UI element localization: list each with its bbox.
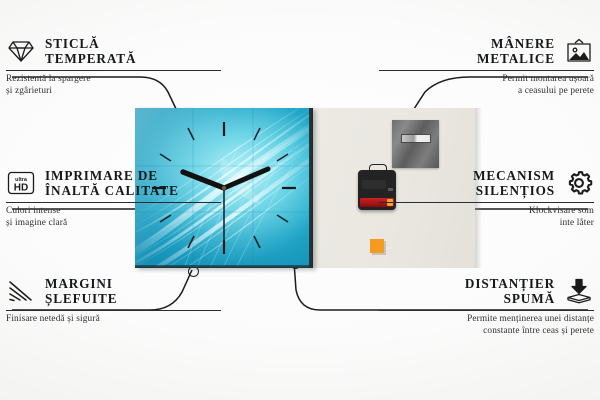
metal-hanger-plate <box>392 120 439 168</box>
feature-tempered-glass: STICLĂ TEMPERATĂ Rezistentă la spargere … <box>6 36 221 98</box>
divider <box>6 70 221 71</box>
clock-right-edge <box>309 108 313 268</box>
divider <box>6 310 221 311</box>
feature-subtitle: Permite menținerea unei distanțe constan… <box>379 314 594 338</box>
foam-spacer <box>370 239 384 253</box>
feature-title: DISTANȚIER SPUMĂ <box>465 276 555 306</box>
feature-title: MÂNERE METALICE <box>477 36 555 66</box>
minute-hand <box>224 169 268 188</box>
clock-bottom-edge <box>135 265 313 268</box>
tick-1 <box>254 128 260 140</box>
feature-title: MECANISM SILENȚIOS <box>473 168 555 198</box>
feature-metal-handles: MÂNERE METALICE Permit montarea ușoară a… <box>379 36 594 98</box>
infographic-canvas: STICLĂ TEMPERATĂ Rezistentă la spargere … <box>0 0 600 400</box>
feature-subtitle: Rezistentă la spargere și zgârieturi <box>6 74 221 98</box>
diagonal-lines-icon <box>6 276 36 306</box>
diamond-icon <box>6 36 36 66</box>
hanger-slot <box>401 134 431 143</box>
feature-foam-spacer: DISTANȚIER SPUMĂ Permite menținerea unei… <box>379 276 594 338</box>
tick-2 <box>277 154 288 161</box>
divider <box>379 202 594 203</box>
feature-high-quality-print: ultra HD IMPRIMARE DE ÎNALTĂ CALITATE Cu… <box>6 168 221 230</box>
feature-title: STICLĂ TEMPERATĂ <box>45 36 136 66</box>
arrow-onto-pad-icon <box>564 276 594 306</box>
tick-7 <box>188 236 194 248</box>
divider <box>379 310 594 311</box>
tick-11 <box>188 128 194 140</box>
divider <box>6 202 221 203</box>
feature-subtitle: Culori intense și imagine clară <box>6 206 221 230</box>
picture-frame-hanger-icon <box>564 36 594 66</box>
divider <box>379 70 594 71</box>
tick-4 <box>277 215 288 222</box>
svg-text:HD: HD <box>14 183 28 194</box>
feature-silent-mechanism: MECANISM SILENȚIOS Klockvisare som inte … <box>379 168 594 230</box>
gear-icon <box>564 168 594 198</box>
feature-polished-edges: MARGINI ȘLEFUITE Finisare netedă și sigu… <box>6 276 221 326</box>
tick-5 <box>254 236 260 248</box>
feature-subtitle: Permit montarea ușoară a ceasului pe per… <box>379 74 594 98</box>
feature-title: IMPRIMARE DE ÎNALTĂ CALITATE <box>45 168 179 198</box>
feature-subtitle: Klockvisare som inte låter <box>379 206 594 230</box>
feature-subtitle: Finisare netedă și sigură <box>6 314 221 326</box>
tick-10 <box>160 154 171 161</box>
ultra-hd-icon: ultra HD <box>6 168 36 198</box>
feature-title: MARGINI ȘLEFUITE <box>45 276 117 306</box>
hands-center-cap <box>222 186 226 190</box>
